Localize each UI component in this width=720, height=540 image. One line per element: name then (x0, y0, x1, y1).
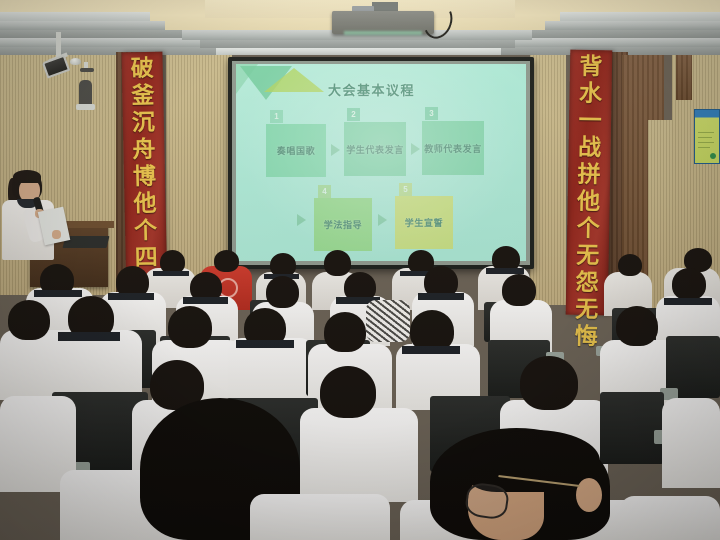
slide-step-number-5: 5 (399, 183, 412, 196)
camera-dome (70, 58, 81, 65)
projector-mount (372, 2, 398, 11)
projected-slide: 大会基本议程 1 奏唱国歌 2 学生代表发言 3 教师代表发言 4 学法指导 5… (236, 64, 526, 261)
slide-arrow-4 (378, 214, 387, 226)
slide-step-box-4: 学法指导 (314, 198, 372, 251)
slide-step-box-3: 教师代表发言 (422, 121, 484, 175)
presenter-hand-paper (52, 230, 61, 239)
banner-right-char-1: 水 (579, 81, 602, 108)
banner-right-char-6: 个 (576, 216, 599, 243)
ceiling-molding-right-1 (560, 12, 720, 21)
wall-panel-mid-right (530, 55, 566, 305)
projector-light-glow (344, 31, 422, 35)
slide-step-box-1: 奏唱国歌 (266, 124, 326, 177)
audience-head-r4-d (266, 276, 299, 308)
seat-back-r2-e (600, 392, 664, 464)
slide-title: 大会基本议程 (328, 80, 415, 99)
banner-left-char-5: 他 (133, 191, 157, 218)
audience-head-r5-c (324, 250, 351, 276)
audience-head-r4-g (502, 274, 536, 306)
poster-seal (710, 153, 716, 159)
slide-step-number-1: 1 (270, 110, 283, 123)
audience-collar-r4-f (418, 293, 464, 300)
audience-collar-r4-c (183, 297, 228, 304)
slide-step-number-3: 3 (425, 107, 438, 120)
ceiling-molding-left-4 (0, 38, 200, 47)
ceiling-molding-left-1 (0, 12, 150, 21)
ceiling-molding-right-3 (530, 30, 720, 38)
banner-left-char-1: 釜 (131, 83, 155, 110)
audience-torso-r3-d (228, 338, 314, 406)
ceiling-soffit-band-2 (200, 40, 515, 48)
banner-right-char-10: 悔 (575, 324, 598, 351)
audience-collar-r4-h (664, 298, 712, 305)
audience-head-r4-h (672, 268, 706, 300)
banner-right-char-9: 无 (575, 297, 598, 324)
banner-right-char-0: 背 (579, 54, 602, 81)
audience-ear-r1-glasses (576, 478, 602, 512)
banner-right-char-8: 怨 (576, 270, 599, 297)
banner-right-char-4: 拼 (577, 162, 600, 189)
banner-right: 背 水 一 战 拼 他 个 无 怨 无 悔 (566, 50, 613, 316)
audience-head-r3-h (616, 306, 658, 346)
banner-right-char-7: 无 (576, 243, 599, 270)
camera-base (76, 104, 95, 110)
slide-triangle-lime (264, 68, 324, 92)
audience-head-r2-d (520, 356, 578, 410)
ceiling-molding-left-5 (0, 47, 216, 55)
security-camera-icon (79, 80, 92, 106)
banner-left-char-3: 舟 (132, 137, 156, 164)
banner-left-char-6: 个 (134, 218, 158, 245)
slide-step-number-4: 4 (318, 185, 331, 198)
banner-right-char-3: 战 (578, 135, 601, 162)
audience-collar-r5-a (153, 271, 189, 276)
slide-arrow-2 (411, 143, 420, 155)
banner-right-char-5: 他 (577, 189, 600, 216)
audience-collar-r3-f (402, 346, 460, 354)
audience-head-r3-e (324, 312, 366, 352)
ceiling-molding-left-3 (0, 30, 182, 38)
wall-poster (694, 109, 720, 164)
audience-torso-r1-b (250, 494, 390, 540)
ceiling-soffit-band-3 (216, 48, 501, 55)
audience-collar-r3-b (58, 332, 120, 341)
audience-head-r3-a (8, 300, 50, 340)
presenter-hair-top (13, 170, 41, 183)
audience-torso-r1-d (620, 496, 720, 540)
audience-head-r5-f (618, 254, 642, 276)
banner-right-char-2: 一 (578, 108, 601, 135)
ceiling-molding-right-4 (512, 38, 720, 47)
camera-mount-plate (80, 68, 94, 72)
audience-head-r5-red (214, 250, 239, 272)
audience-torso-r2-e (662, 398, 720, 488)
audience-collar-r4-a (34, 290, 82, 297)
ceiling-molding-right-2 (545, 21, 720, 30)
audience-head-r2-c (320, 366, 376, 418)
audience-head-r3-c (168, 306, 212, 348)
audience-striped-sleeve (366, 300, 410, 342)
audience-collar-r3-d (236, 340, 294, 348)
assembly-hall-photo: 破 釜 沉 舟 博 他 个 四 背 水 一 战 拼 他 个 无 怨 无 悔 (0, 0, 720, 540)
audience-torso-r2-c (300, 408, 418, 502)
slide-arrow-3 (297, 214, 306, 226)
slide-arrow-1 (331, 144, 340, 156)
slide-step-number-2: 2 (347, 108, 360, 121)
slide-step-box-2: 学生代表发言 (344, 122, 406, 176)
banner-left-char-4: 博 (133, 164, 157, 191)
slide-step-box-5: 学生宣誓 (395, 196, 453, 249)
banner-left-char-2: 沉 (132, 110, 156, 137)
wall-trim-far-right (676, 55, 692, 100)
audience-collar-r4-b (108, 293, 154, 300)
ceiling-molding-left-2 (0, 21, 165, 30)
banner-left-char-0: 破 (130, 56, 154, 83)
